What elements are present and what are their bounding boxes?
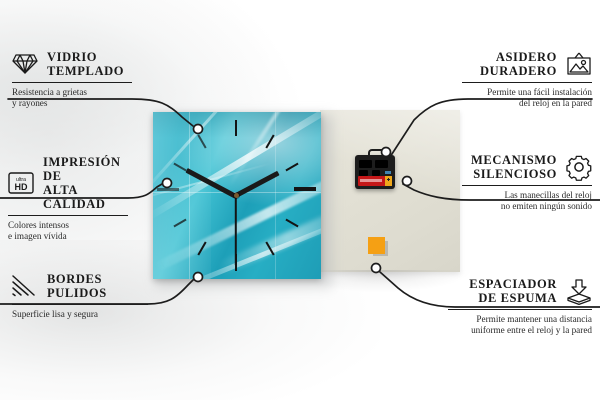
feature-title: ASIDERO DURADERO xyxy=(480,50,557,78)
ultra-hd-icon: ultra HD xyxy=(8,171,34,195)
foam-spacer xyxy=(368,237,385,254)
feature-title: ESPACIADOR DE ESPUMA xyxy=(469,277,557,305)
feature-impresion-alta-calidad[interactable]: ultra HD IMPRESIÓN DE ALTA CALIDAD Color… xyxy=(8,155,128,242)
clock-tick-12 xyxy=(235,120,237,136)
ultra-hd-big-label: HD xyxy=(15,182,28,192)
feature-heading: ESPACIADOR DE ESPUMA xyxy=(448,277,592,305)
clock-mechanism xyxy=(355,155,395,189)
feature-rule xyxy=(462,185,592,186)
battery-plus-mark xyxy=(388,178,389,181)
clock-seam-vertical xyxy=(275,112,276,279)
diamond-icon xyxy=(12,52,38,76)
feature-title: IMPRESIÓN DE ALTA CALIDAD xyxy=(43,155,128,211)
infographic-canvas: VIDRIO TEMPLADO Resistencia a grietas y … xyxy=(0,0,600,400)
feature-rule xyxy=(12,82,132,83)
feature-description: Permite mantener una distancia uniforme … xyxy=(448,314,592,336)
feature-espaciador-de-espuma[interactable]: ESPACIADOR DE ESPUMA Permite mantener un… xyxy=(448,277,592,336)
arrow-down-onto-layers-icon xyxy=(566,279,592,303)
clock-hour-hand xyxy=(235,171,280,198)
feature-description: Superficie lisa y segura xyxy=(12,309,148,320)
clock-tick-2 xyxy=(285,163,298,172)
feature-description: Permite una fácil instalación del reloj … xyxy=(462,87,592,109)
clock-tick-4 xyxy=(285,219,298,228)
feature-title: VIDRIO TEMPLADO xyxy=(47,50,124,78)
feature-mecanismo-silencioso[interactable]: MECANISMO SILENCIOSO Las manecillas del … xyxy=(462,153,592,212)
feature-title: MECANISMO SILENCIOSO xyxy=(471,153,557,181)
feature-rule xyxy=(8,215,128,216)
feature-rule xyxy=(12,304,148,305)
clock-tick-3 xyxy=(294,187,316,191)
glass-wall-clock xyxy=(153,112,321,279)
feature-vidrio-templado[interactable]: VIDRIO TEMPLADO Resistencia a grietas y … xyxy=(12,50,132,109)
feature-bordes-pulidos[interactable]: BORDES PULIDOS Superficie lisa y segura xyxy=(12,272,148,320)
feature-description: Colores intensos e imagen vívida xyxy=(8,220,128,242)
diagonal-stripes-icon xyxy=(12,274,38,298)
gear-icon xyxy=(566,155,592,179)
feature-heading: BORDES PULIDOS xyxy=(12,272,148,300)
feature-title: BORDES PULIDOS xyxy=(47,272,107,300)
feature-heading: MECANISMO SILENCIOSO xyxy=(462,153,592,181)
aa-battery xyxy=(358,176,392,186)
battery-label xyxy=(360,179,382,182)
feature-heading: VIDRIO TEMPLADO xyxy=(12,50,132,78)
feature-heading: ASIDERO DURADERO xyxy=(462,50,592,78)
clock-tick-9 xyxy=(157,188,179,191)
mechanism-indicator xyxy=(385,171,391,174)
feature-asidero-duradero[interactable]: ASIDERO DURADERO Permite una fácil insta… xyxy=(462,50,592,109)
clock-center-hub xyxy=(234,193,239,198)
clock-seam-vertical xyxy=(189,112,190,279)
mechanism-hanger-loop xyxy=(368,149,386,160)
feature-rule xyxy=(448,309,592,310)
wall-hanging-frame-icon xyxy=(566,52,592,76)
feature-description: Resistencia a grietas y rayones xyxy=(12,87,132,109)
mechanism-detail xyxy=(359,160,372,168)
feature-heading: ultra HD IMPRESIÓN DE ALTA CALIDAD xyxy=(8,155,128,211)
clock-second-hand xyxy=(235,196,237,266)
mechanism-detail xyxy=(375,160,388,168)
product-photo xyxy=(120,95,480,300)
wall-panel-backdrop xyxy=(320,110,460,272)
feature-rule xyxy=(462,82,592,83)
feature-description: Las manecillas del reloj no emiten ningú… xyxy=(462,190,592,212)
